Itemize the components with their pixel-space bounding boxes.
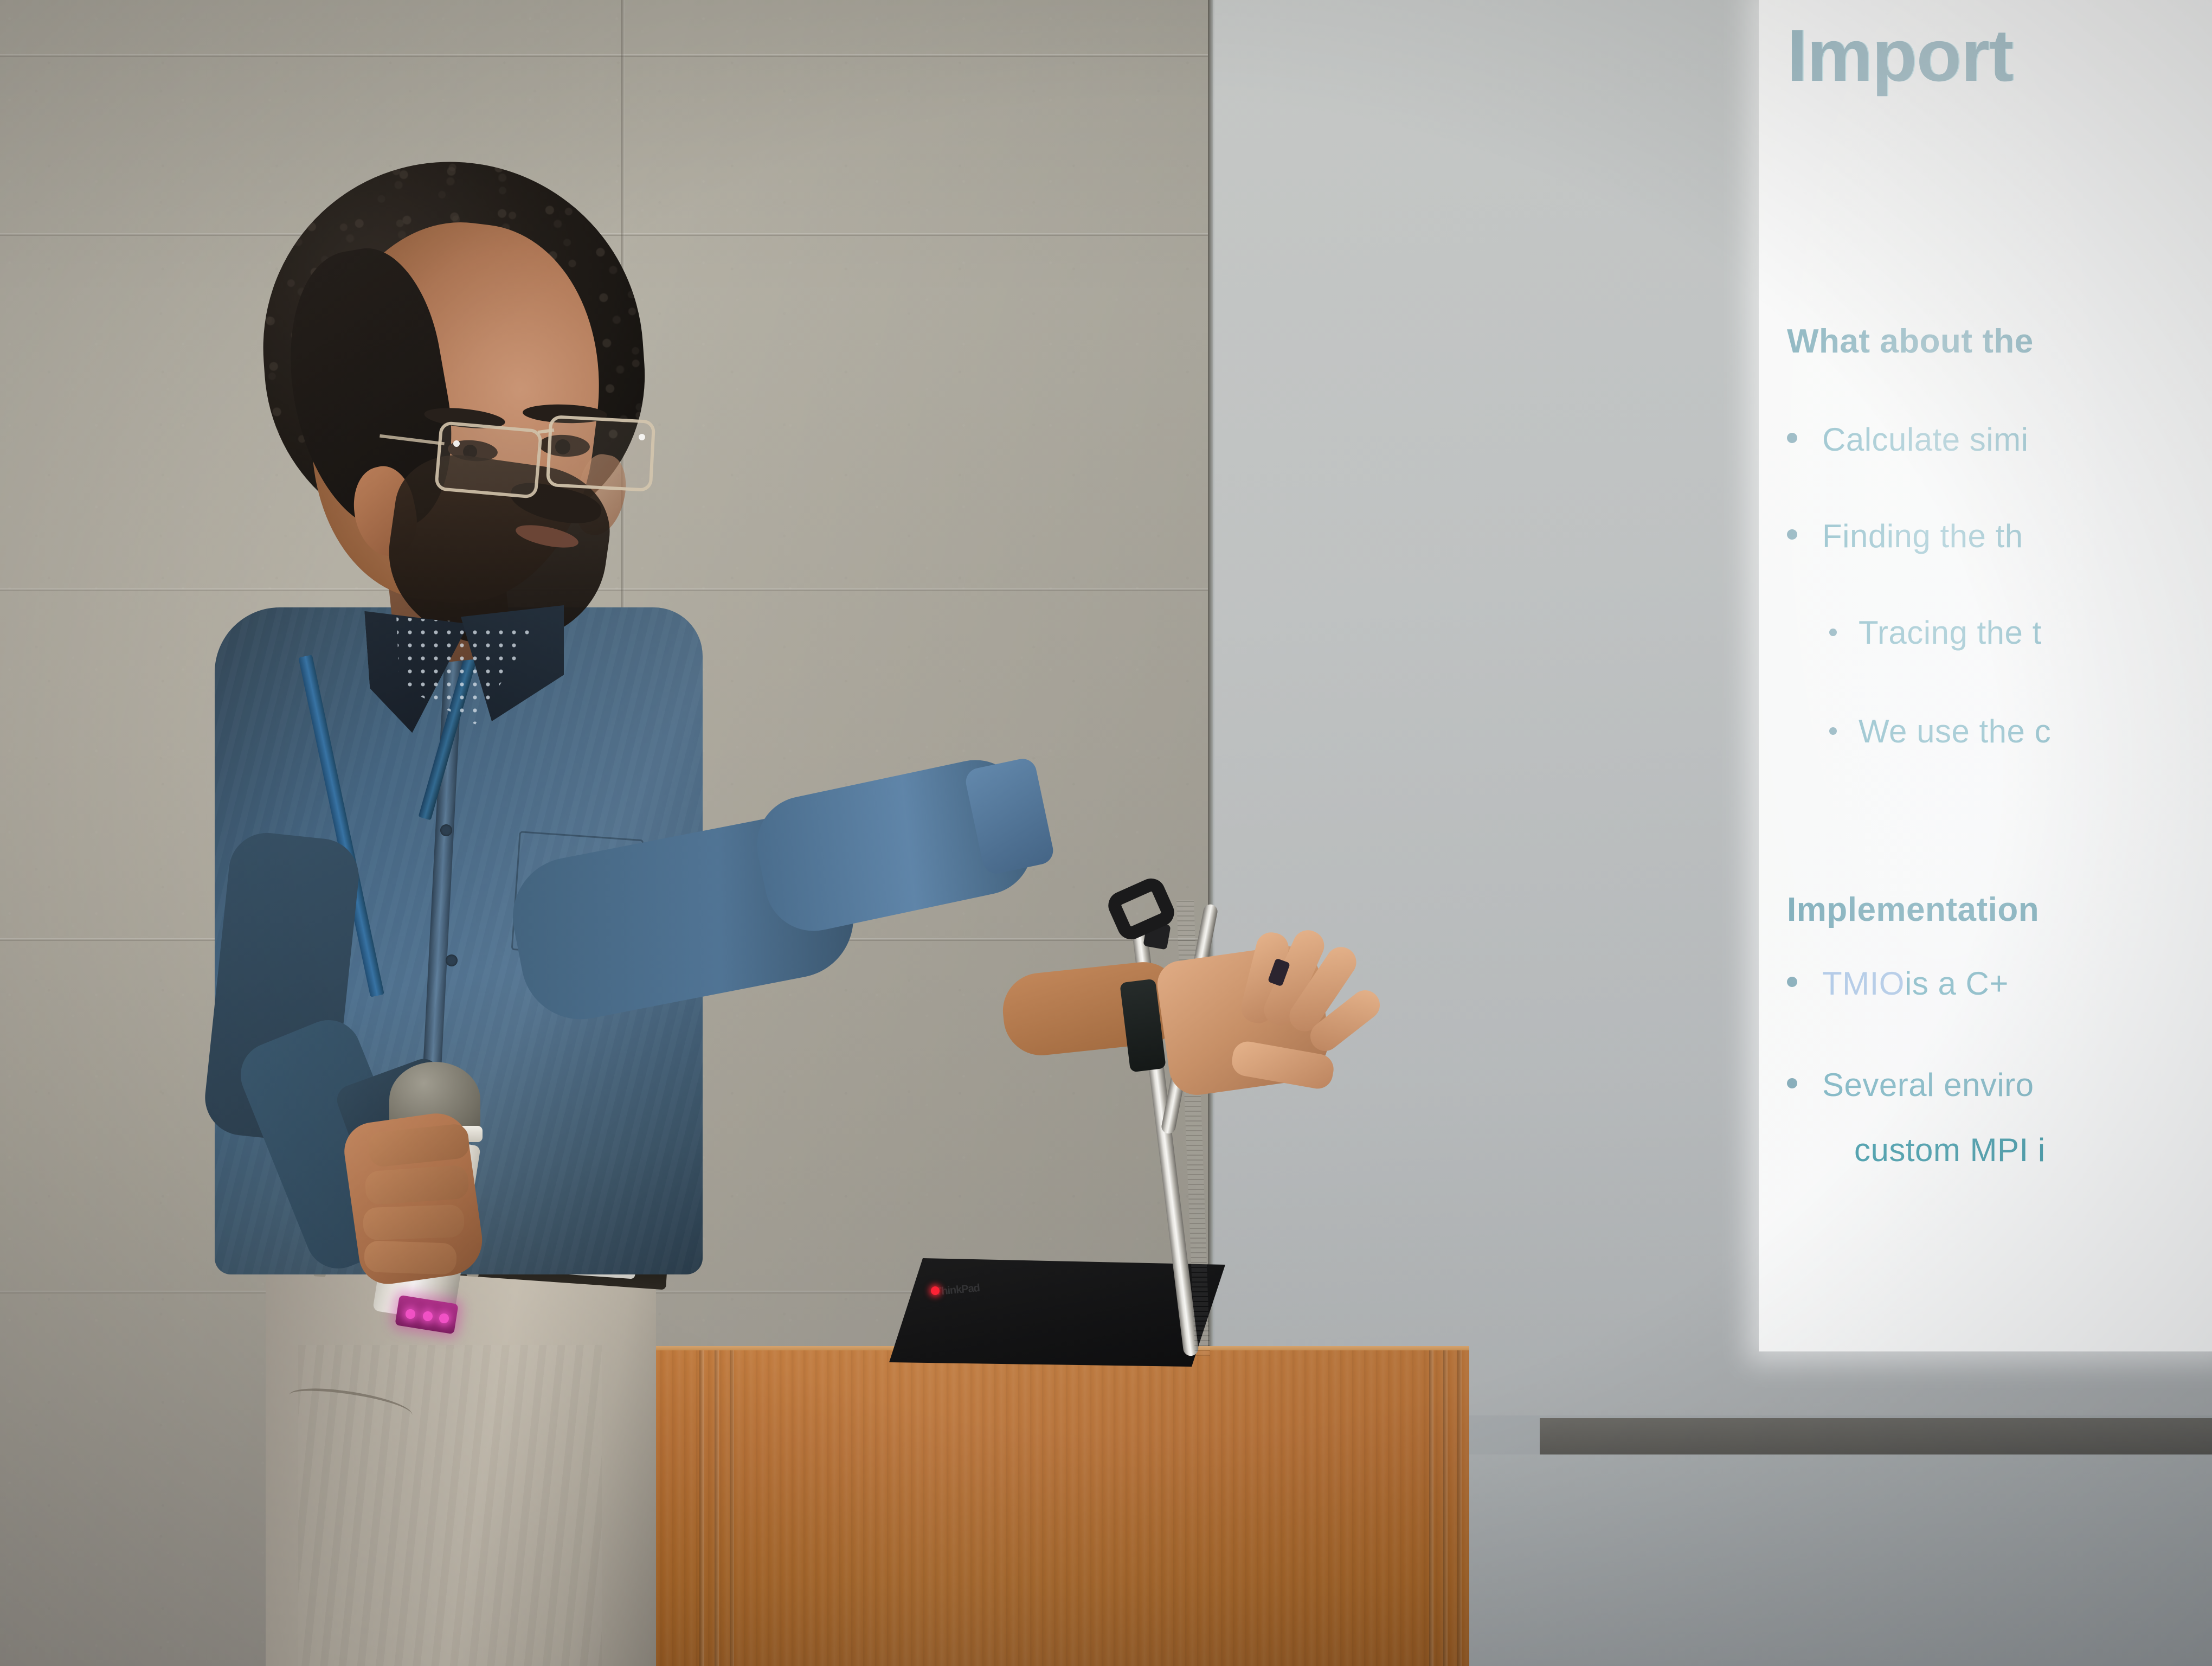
slide-bullet-tmio: TMIO is a C+ [1787, 965, 2009, 1002]
bullet-dot-icon [1829, 629, 1837, 636]
slide-title: Import [1787, 13, 2013, 98]
speaker [136, 282, 1285, 1666]
bullet-dot-icon [1829, 727, 1837, 735]
slide-section-heading-implementation: Implementation [1787, 890, 2039, 929]
bullet-text: is a C+ [1905, 965, 2009, 1002]
bullet-dot-icon [1787, 977, 1797, 987]
slide-subbullet-tracing: Tracing the t [1829, 614, 2042, 651]
projected-slide: Import What about the Calculate simi Fin… [1759, 0, 2212, 1351]
finger [364, 1240, 457, 1275]
podium-groove [1457, 1350, 1462, 1666]
bullet-dot-icon [1787, 433, 1797, 443]
bullet-text: Calculate simi [1822, 421, 2028, 458]
presentation-photo-scene: Import What about the Calculate simi Fin… [0, 0, 2212, 1666]
shirt-button [446, 954, 458, 966]
slide-subbullet-we-use: We use the c [1829, 713, 2051, 750]
slide-section-heading-what-about: What about the [1787, 322, 2034, 361]
mic-led-indicator-icon [406, 1309, 415, 1319]
slide-bullet-continuation: custom MPI i [1854, 1131, 2046, 1169]
shirt-button [440, 824, 452, 836]
slide-bullet-several-environments: Several enviro [1787, 1066, 2034, 1104]
bullet-emphasis-text: TMIO [1822, 965, 1905, 1002]
glasses-lens-right [546, 415, 656, 492]
bullet-text: Finding the th [1822, 517, 2023, 555]
glasses-lens-left [434, 421, 543, 499]
bullet-dot-icon [1787, 529, 1797, 540]
mic-led-indicator-icon [439, 1313, 449, 1323]
mic-led-indicator-icon [423, 1311, 433, 1321]
glasses-glint [453, 440, 460, 447]
glasses-glint [639, 434, 645, 440]
finger [363, 1204, 465, 1240]
podium-groove [1443, 1350, 1448, 1666]
slide-bullet-finding: Finding the th [1787, 517, 2023, 555]
bullet-text: We use the c [1859, 713, 2051, 750]
slide-bullet-calculate: Calculate simi [1787, 421, 2028, 458]
screen-lower-bar [1540, 1418, 2212, 1456]
finger [364, 1164, 470, 1205]
bullet-text: Several enviro [1822, 1066, 2034, 1104]
podium-groove [1429, 1350, 1433, 1666]
bullet-dot-icon [1787, 1078, 1797, 1088]
bullet-text: Tracing the t [1859, 614, 2042, 651]
